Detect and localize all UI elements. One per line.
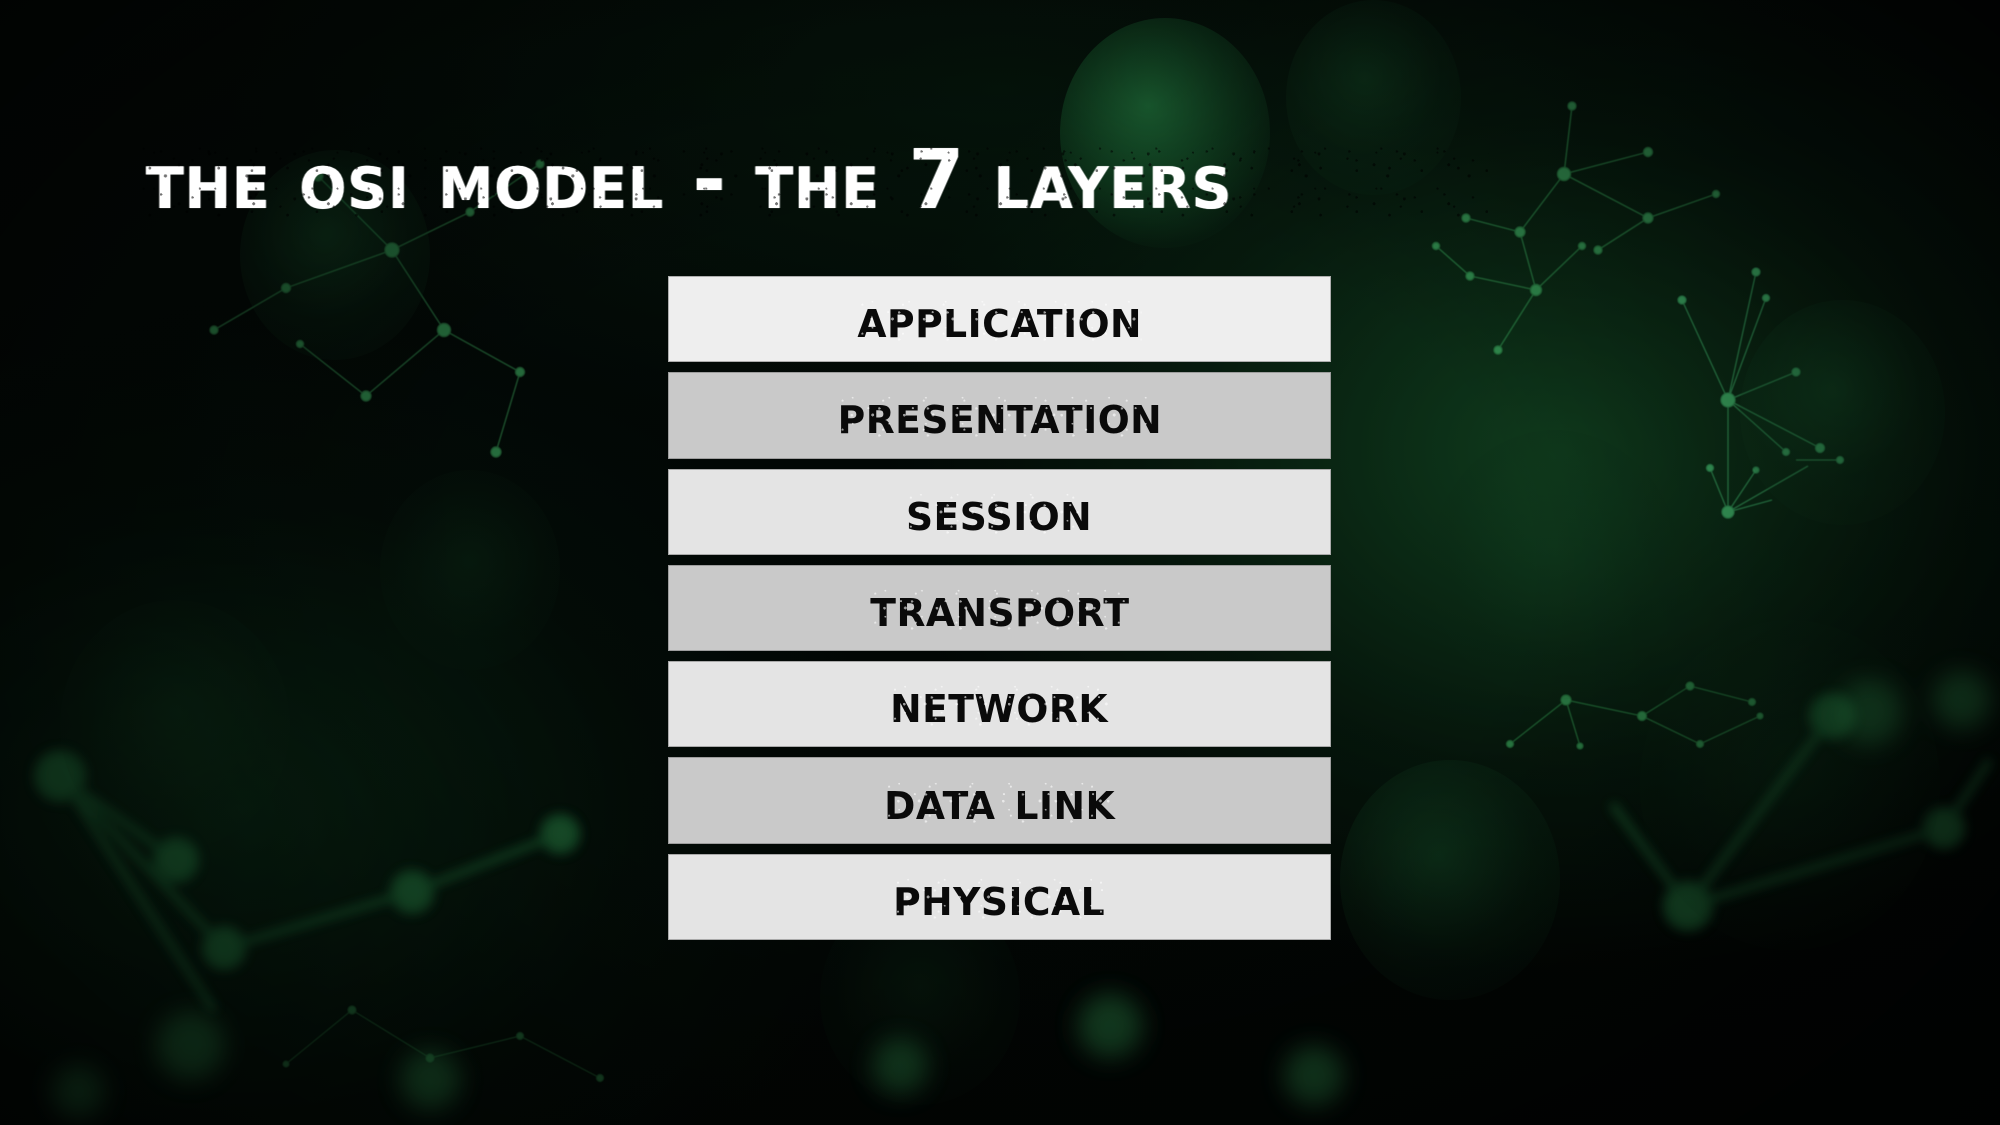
- osi-layer-label: Network: [891, 675, 1109, 733]
- osi-layer-label: Data Link: [884, 772, 1115, 830]
- osi-layer-label: Session: [906, 483, 1092, 541]
- osi-layer-physical[interactable]: Physical: [668, 854, 1331, 940]
- osi-layer-label: Application: [857, 290, 1142, 348]
- slide-canvas: The OSI Model - The 7 Layers Application…: [0, 0, 2000, 1125]
- osi-layer-session[interactable]: Session: [668, 469, 1331, 555]
- osi-layer-presentation[interactable]: Presentation: [668, 372, 1331, 458]
- slide-title: The OSI Model - The 7 Layers: [146, 133, 1504, 229]
- osi-layer-stack: Application Presentation Session Transpo…: [668, 276, 1331, 940]
- osi-layer-label: Transport: [870, 579, 1129, 637]
- osi-layer-label: Physical: [893, 868, 1105, 926]
- osi-layer-data-link[interactable]: Data Link: [668, 757, 1331, 843]
- osi-layer-label: Presentation: [837, 386, 1162, 444]
- osi-layer-application[interactable]: Application: [668, 276, 1331, 362]
- osi-layer-transport[interactable]: Transport: [668, 565, 1331, 651]
- osi-layer-network[interactable]: Network: [668, 661, 1331, 747]
